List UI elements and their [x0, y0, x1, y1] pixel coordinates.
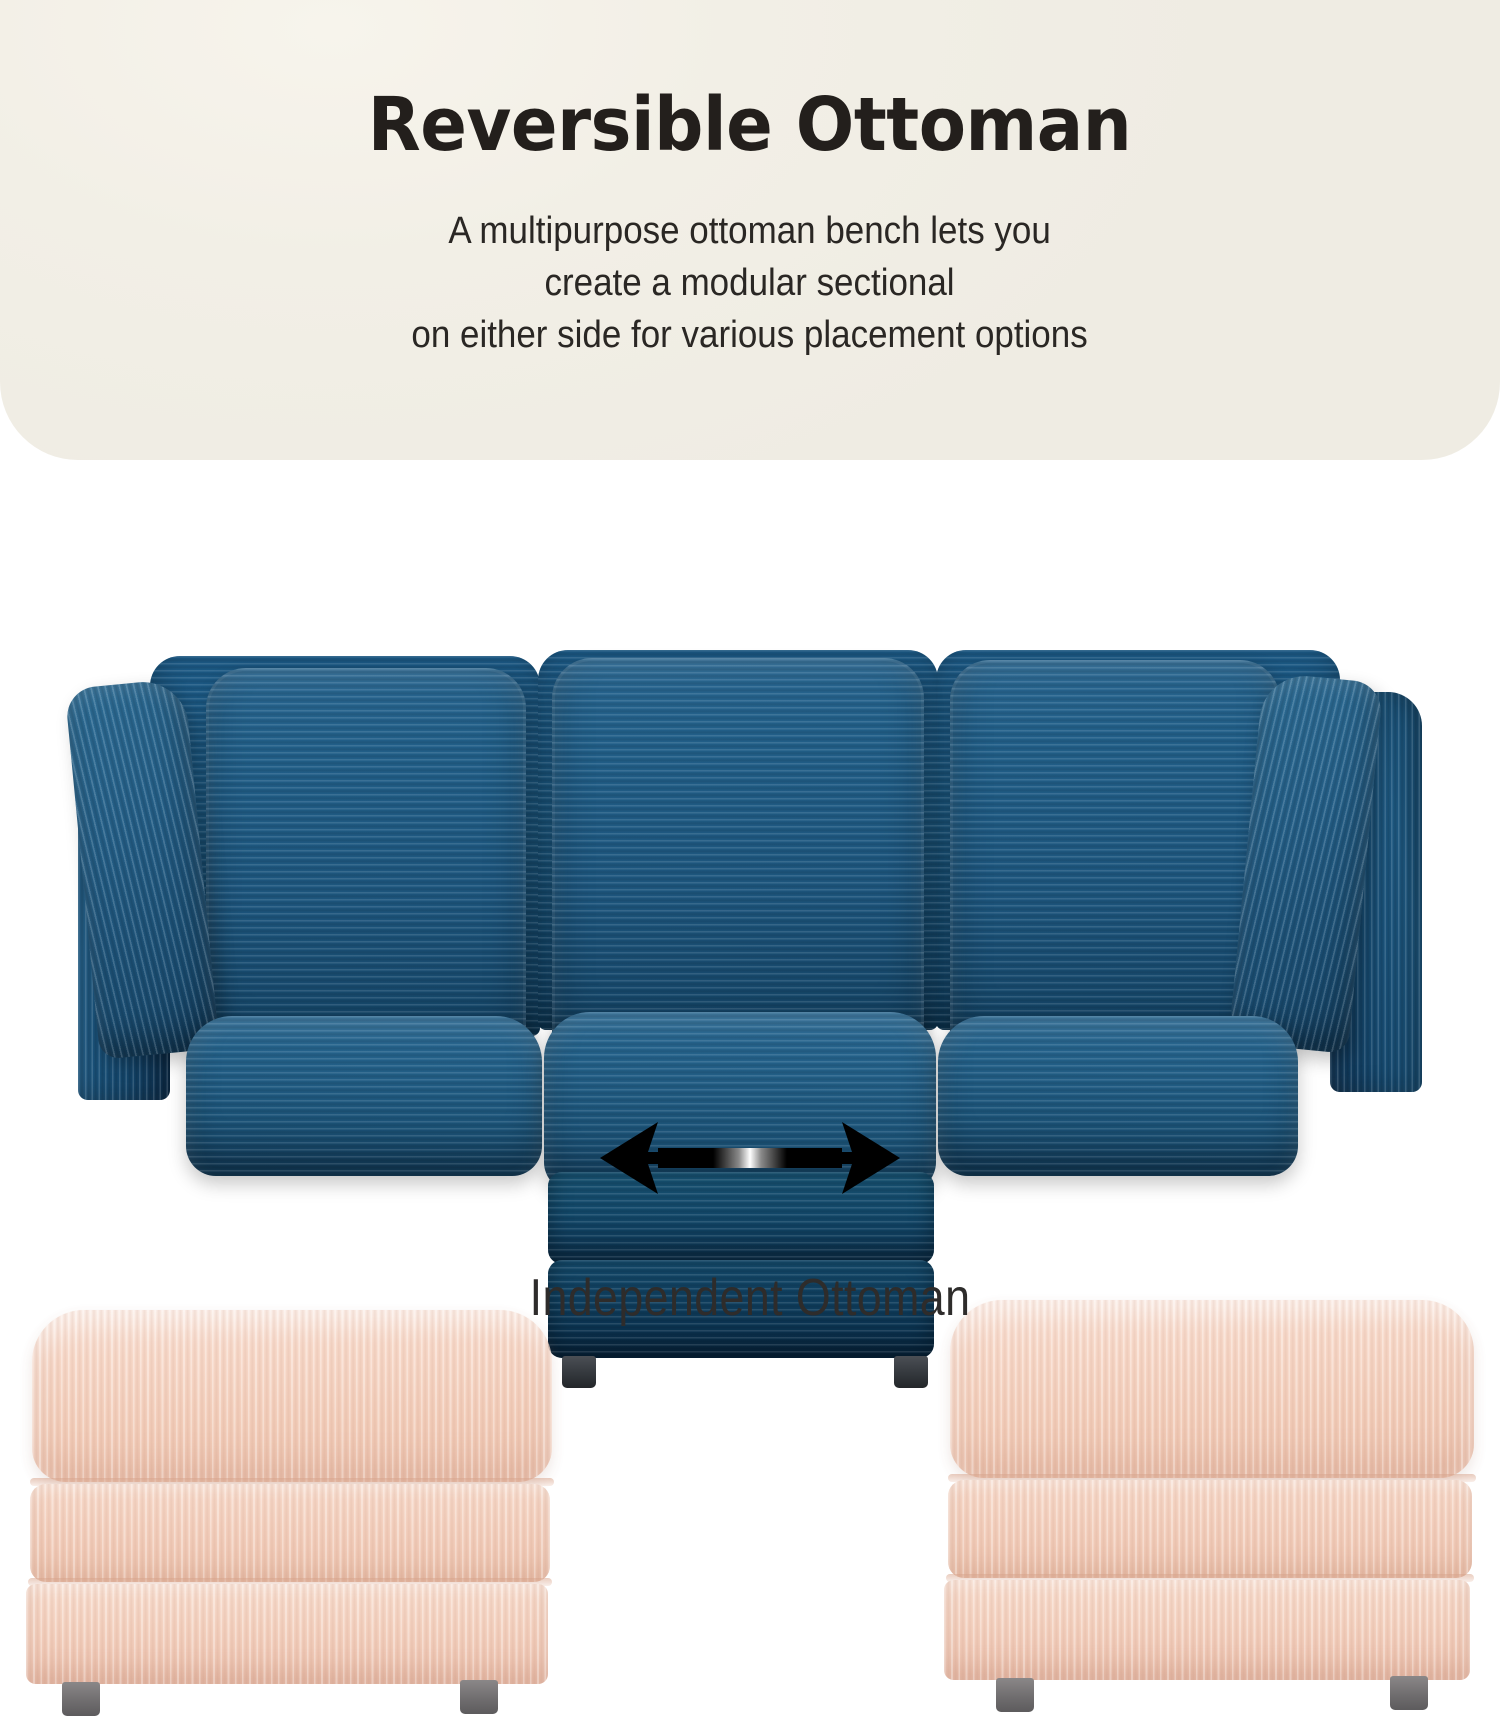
subtitle-line-3: on either side for various placement opt…	[412, 310, 1088, 362]
sofa-back-cushion-center	[552, 658, 924, 1058]
corduroy-texture	[32, 1310, 552, 1482]
ottoman-right-mid-tier	[948, 1480, 1472, 1578]
corduroy-texture	[552, 658, 924, 1058]
sofa-foot-right	[894, 1356, 928, 1388]
ottoman-left-mid-tier	[30, 1484, 550, 1582]
ottoman-right[interactable]	[938, 872, 1486, 1642]
corduroy-texture	[948, 1480, 1472, 1578]
ottoman-right-base-tier	[944, 1580, 1470, 1680]
double-arrow-icon	[596, 1108, 904, 1208]
page-subtitle: A multipurpose ottoman bench lets you cr…	[412, 206, 1088, 361]
corduroy-texture	[26, 1584, 548, 1684]
arrow-shaft	[658, 1148, 842, 1168]
page-title: Reversible Ottoman	[368, 86, 1132, 164]
arrow-head-left	[600, 1122, 664, 1194]
product-image	[0, 460, 1500, 1250]
banner-content: Reversible Ottoman A multipurpose ottoma…	[0, 0, 1500, 460]
subtitle-line-2: create a modular sectional	[412, 258, 1088, 310]
ottoman-left-base-tier	[26, 1584, 548, 1684]
corduroy-texture	[944, 1580, 1470, 1680]
ottoman-left[interactable]	[20, 880, 560, 1640]
header-banner: Reversible Ottoman A multipurpose ottoma…	[0, 0, 1500, 460]
ottoman-right-foot-back	[1390, 1676, 1428, 1710]
ottoman-left-foot-front	[62, 1682, 100, 1716]
arrow-head-right	[836, 1122, 900, 1194]
subtitle-line-1: A multipurpose ottoman bench lets you	[412, 206, 1088, 258]
product-caption: Independent Ottoman	[105, 1268, 1395, 1328]
reversible-direction-indicator	[596, 1108, 904, 1208]
ottoman-right-foot-front	[996, 1678, 1034, 1712]
sofa-foot-left	[562, 1356, 596, 1388]
ottoman-left-foot-back	[460, 1680, 498, 1714]
corduroy-texture	[30, 1484, 550, 1582]
ottoman-left-top-cushion	[32, 1310, 552, 1482]
